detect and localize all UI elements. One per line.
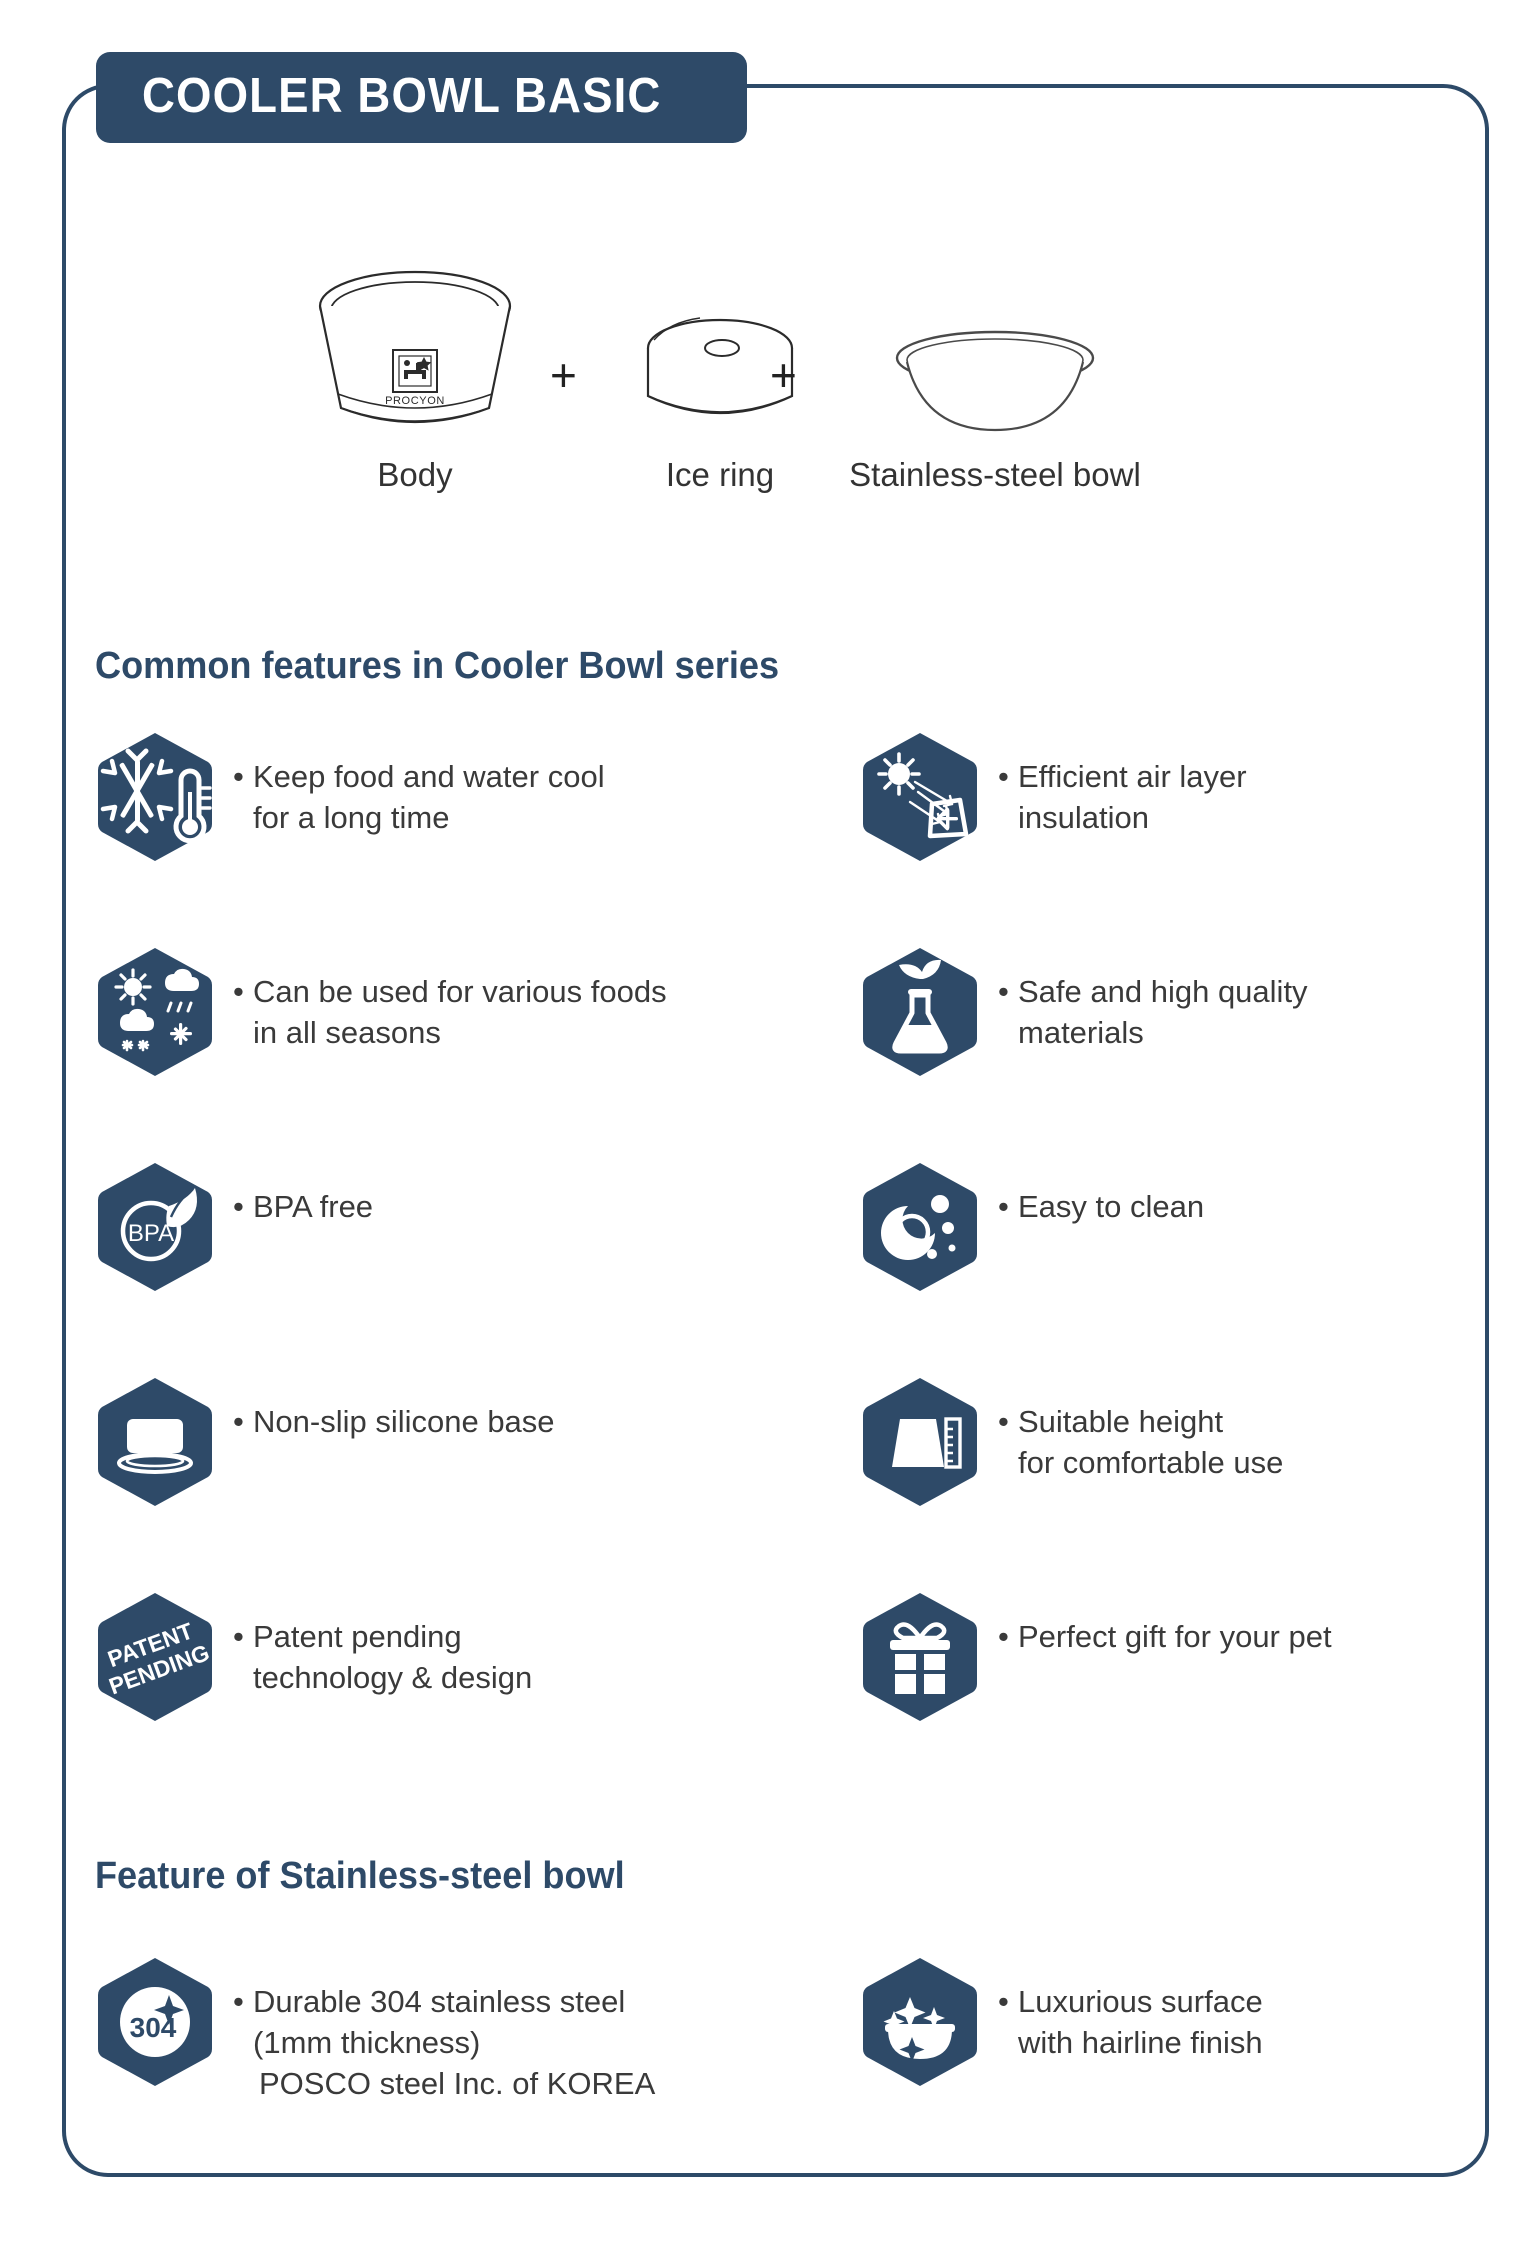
- steel-304-badge-icon: 304: [95, 1955, 215, 2089]
- bullet-icon: •: [233, 971, 253, 1012]
- feature-line-2: materials: [998, 1012, 1308, 1053]
- feature-suitable-height: •Suitable height for comfortable use: [860, 1375, 1283, 1509]
- feature-line-1: Patent pending: [253, 1619, 462, 1654]
- snowflake-thermometer-icon: [95, 730, 215, 864]
- product-caption-body: Body: [300, 456, 530, 494]
- silicone-base-icon: [95, 1375, 215, 1509]
- bullet-icon: •: [233, 1616, 253, 1657]
- feature-text-suitable-height: •Suitable height for comfortable use: [998, 1375, 1283, 1483]
- bullet-icon: •: [998, 1401, 1018, 1442]
- feature-304-steel: 304 •Durable 304 stainless steel (1mm th…: [95, 1955, 655, 2105]
- title-banner: COOLER BOWL BASIC: [96, 52, 747, 143]
- feature-text-bpa-free: •BPA free: [233, 1160, 373, 1227]
- feature-line-2: with hairline finish: [998, 2022, 1263, 2063]
- plus-icon-1: +: [550, 348, 577, 402]
- page-title: COOLER BOWL BASIC: [142, 72, 661, 121]
- four-seasons-weather-icon: [95, 945, 215, 1079]
- product-caption-steel-bowl: Stainless-steel bowl: [830, 456, 1160, 494]
- feature-line-1: Durable 304 stainless steel: [253, 1984, 625, 2019]
- feature-text-hairline-finish: •Luxurious surface with hairline finish: [998, 1955, 1263, 2063]
- bullet-icon: •: [233, 1186, 253, 1227]
- bullet-icon: •: [998, 756, 1018, 797]
- feature-line-1: Keep food and water cool: [253, 759, 605, 794]
- feature-line-1: Easy to clean: [1018, 1189, 1204, 1224]
- sparkle-bowl-hairline-icon: [860, 1955, 980, 2089]
- bullet-icon: •: [998, 1981, 1018, 2022]
- product-item-body: PROCYON Body: [300, 248, 530, 494]
- stainless-steel-bowl-illustration: [830, 248, 1160, 448]
- product-composition-strip: PROCYON Body + Ice ring + Stainless-: [300, 248, 1300, 548]
- feature-line-1: Luxurious surface: [1018, 1984, 1263, 2019]
- section-heading-common-features: Common features in Cooler Bowl series: [95, 645, 779, 688]
- feature-line-1: Can be used for various foods: [253, 974, 667, 1009]
- plus-icon-2: +: [770, 348, 797, 402]
- feature-line-1: Efficient air layer: [1018, 759, 1247, 794]
- section-heading-steel-bowl: Feature of Stainless-steel bowl: [95, 1855, 625, 1898]
- feature-text-304-steel: •Durable 304 stainless steel (1mm thickn…: [233, 1955, 655, 2105]
- feature-text-patent-pending: •Patent pending technology & design: [233, 1590, 532, 1698]
- feature-text-easy-clean: •Easy to clean: [998, 1160, 1204, 1227]
- product-item-steel-bowl: Stainless-steel bowl: [830, 248, 1160, 494]
- patent-pending-badge-icon: PATENT PENDING: [95, 1590, 215, 1724]
- feature-line-2: technology & design: [233, 1657, 532, 1698]
- feature-easy-clean: •Easy to clean: [860, 1160, 1204, 1294]
- feature-text-safe-materials: •Safe and high quality materials: [998, 945, 1308, 1053]
- feature-line-1: Non-slip silicone base: [253, 1404, 555, 1439]
- bullet-icon: •: [998, 971, 1018, 1012]
- feature-all-seasons: •Can be used for various foods in all se…: [95, 945, 667, 1079]
- feature-line-2: (1mm thickness): [233, 2022, 655, 2063]
- feature-keep-cool: •Keep food and water cool for a long tim…: [95, 730, 605, 864]
- svg-text:PROCYON: PROCYON: [385, 395, 445, 407]
- feature-line-1: Suitable height: [1018, 1404, 1223, 1439]
- feature-safe-materials: •Safe and high quality materials: [860, 945, 1308, 1079]
- feature-hairline-finish: •Luxurious surface with hairline finish: [860, 1955, 1263, 2089]
- feature-text-perfect-gift: •Perfect gift for your pet: [998, 1590, 1332, 1657]
- bullet-icon: •: [998, 1186, 1018, 1227]
- body-bowl-base-illustration: PROCYON: [300, 248, 530, 448]
- feature-line-2: insulation: [998, 797, 1247, 838]
- feature-text-air-insulation: •Efficient air layer insulation: [998, 730, 1247, 838]
- feature-perfect-gift: •Perfect gift for your pet: [860, 1590, 1332, 1724]
- bpa-free-icon: BPA: [95, 1160, 215, 1294]
- leaf-flask-materials-icon: [860, 945, 980, 1079]
- feature-line-2: for a long time: [233, 797, 605, 838]
- feature-text-keep-cool: •Keep food and water cool for a long tim…: [233, 730, 605, 838]
- bullet-icon: •: [233, 1401, 253, 1442]
- feature-line-2: for comfortable use: [998, 1442, 1283, 1483]
- gift-box-icon: [860, 1590, 980, 1724]
- feature-line-2: in all seasons: [233, 1012, 667, 1053]
- bullet-icon: •: [998, 1616, 1018, 1657]
- feature-line-1: Perfect gift for your pet: [1018, 1619, 1332, 1654]
- bowl-height-ruler-icon: [860, 1375, 980, 1509]
- bullet-icon: •: [233, 1981, 253, 2022]
- feature-text-silicone-base: •Non-slip silicone base: [233, 1375, 555, 1442]
- bullet-icon: •: [233, 756, 253, 797]
- feature-line-1: Safe and high quality: [1018, 974, 1308, 1009]
- feature-silicone-base: •Non-slip silicone base: [95, 1375, 555, 1509]
- feature-bpa-free: BPA •BPA free: [95, 1160, 373, 1294]
- feature-text-all-seasons: •Can be used for various foods in all se…: [233, 945, 667, 1053]
- bubbles-clean-icon: [860, 1160, 980, 1294]
- sun-rays-insulation-icon: [860, 730, 980, 864]
- feature-line-1: BPA free: [253, 1189, 373, 1224]
- product-caption-ice-ring: Ice ring: [620, 456, 820, 494]
- feature-patent-pending: PATENT PENDING •Patent pending technolog…: [95, 1590, 532, 1724]
- feature-line-3: POSCO steel Inc. of KOREA: [233, 2063, 655, 2104]
- feature-air-insulation: •Efficient air layer insulation: [860, 730, 1247, 864]
